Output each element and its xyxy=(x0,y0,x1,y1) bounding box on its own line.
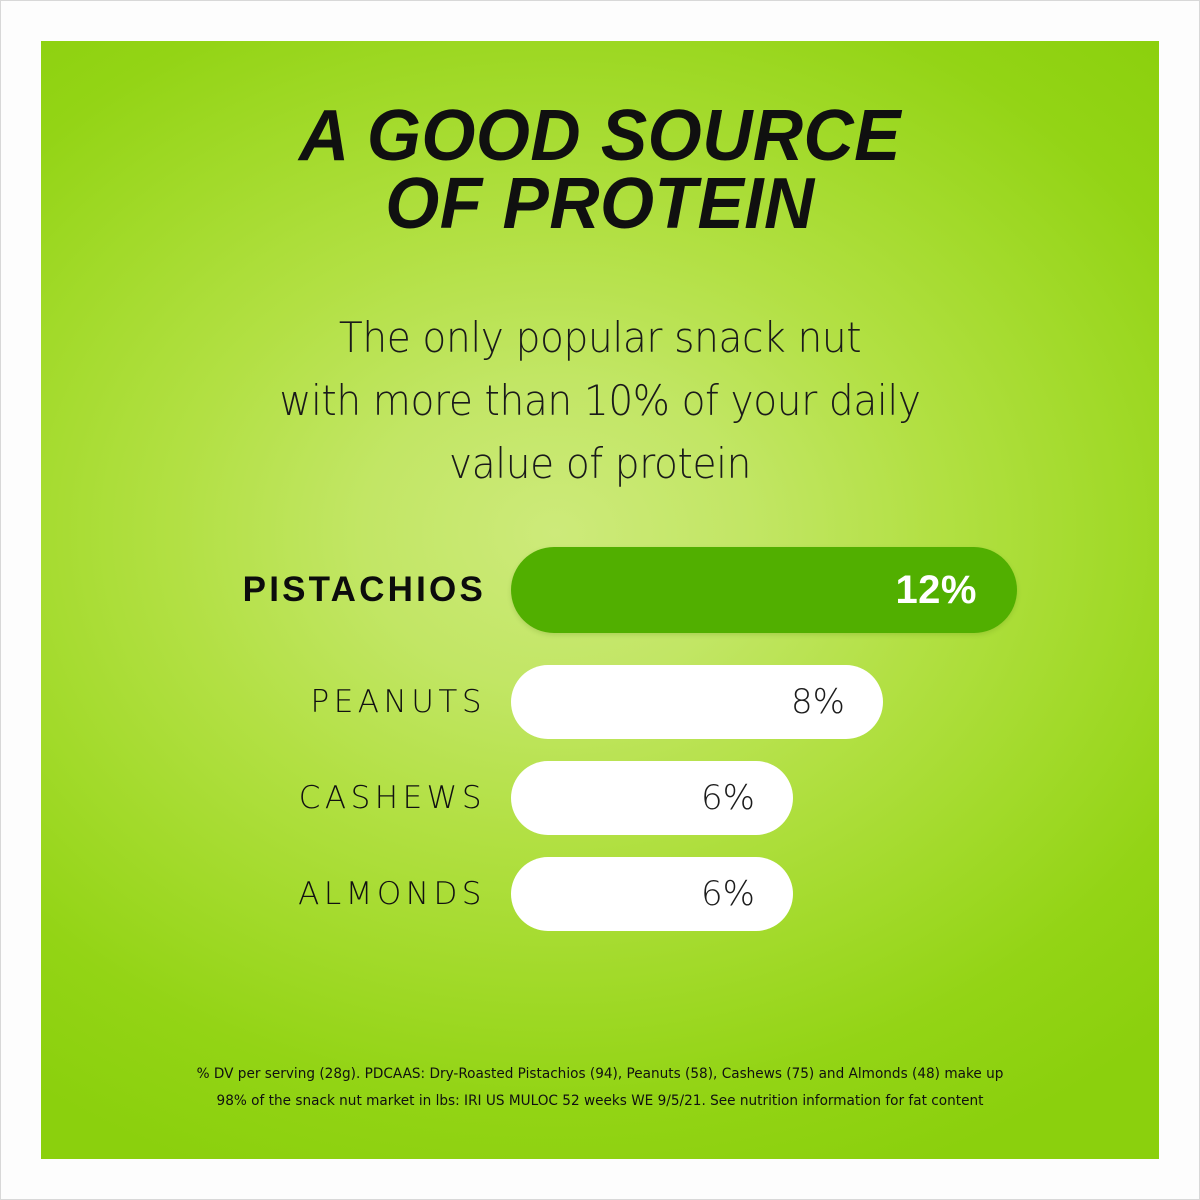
bar-value-cashews: 6% xyxy=(701,778,755,818)
chart-row-almonds: ALMONDS 6% xyxy=(41,846,1159,942)
footnote: % DV per serving (28g). PDCAAS: Dry-Roas… xyxy=(75,1061,1126,1115)
bar-cashews: 6% xyxy=(511,761,793,835)
bar-label-peanuts: PEANUTS xyxy=(141,684,486,720)
bar-value-peanuts: 8% xyxy=(791,682,845,722)
bar-peanuts: 8% xyxy=(511,665,883,739)
bar-label-almonds: ALMONDS xyxy=(141,876,486,912)
page-title-line2: OF PROTEIN xyxy=(61,171,1140,239)
page-subtitle-line1: The only popular snack nut xyxy=(80,306,1120,369)
protein-bar-chart: PISTACHIOS 12% PEANUTS 8% CASHEWS 6% ALM… xyxy=(41,526,1159,942)
footnote-line1: % DV per serving (28g). PDCAAS: Dry-Roas… xyxy=(75,1061,1126,1088)
bar-label-cashews: CASHEWS xyxy=(141,780,486,816)
page-subtitle: The only popular snack nut with more tha… xyxy=(80,306,1120,495)
page-subtitle-line2: with more than 10% of your daily xyxy=(80,369,1120,432)
chart-row-peanuts: PEANUTS 8% xyxy=(41,654,1159,750)
bar-value-almonds: 6% xyxy=(701,874,755,914)
page-title: A GOOD SOURCE OF PROTEIN xyxy=(61,103,1140,238)
green-panel: A GOOD SOURCE OF PROTEIN The only popula… xyxy=(41,41,1159,1159)
chart-row-pistachios: PISTACHIOS 12% xyxy=(41,526,1159,654)
infographic-page: A GOOD SOURCE OF PROTEIN The only popula… xyxy=(0,0,1200,1200)
footnote-line2: 98% of the snack nut market in lbs: IRI … xyxy=(75,1088,1126,1115)
bar-value-pistachios: 12% xyxy=(895,568,977,613)
page-title-line1: A GOOD SOURCE xyxy=(61,103,1140,171)
chart-row-cashews: CASHEWS 6% xyxy=(41,750,1159,846)
bar-pistachios: 12% xyxy=(511,547,1017,633)
bar-label-pistachios: PISTACHIOS xyxy=(141,570,486,610)
bar-almonds: 6% xyxy=(511,857,793,931)
page-subtitle-line3: value of protein xyxy=(80,432,1120,495)
